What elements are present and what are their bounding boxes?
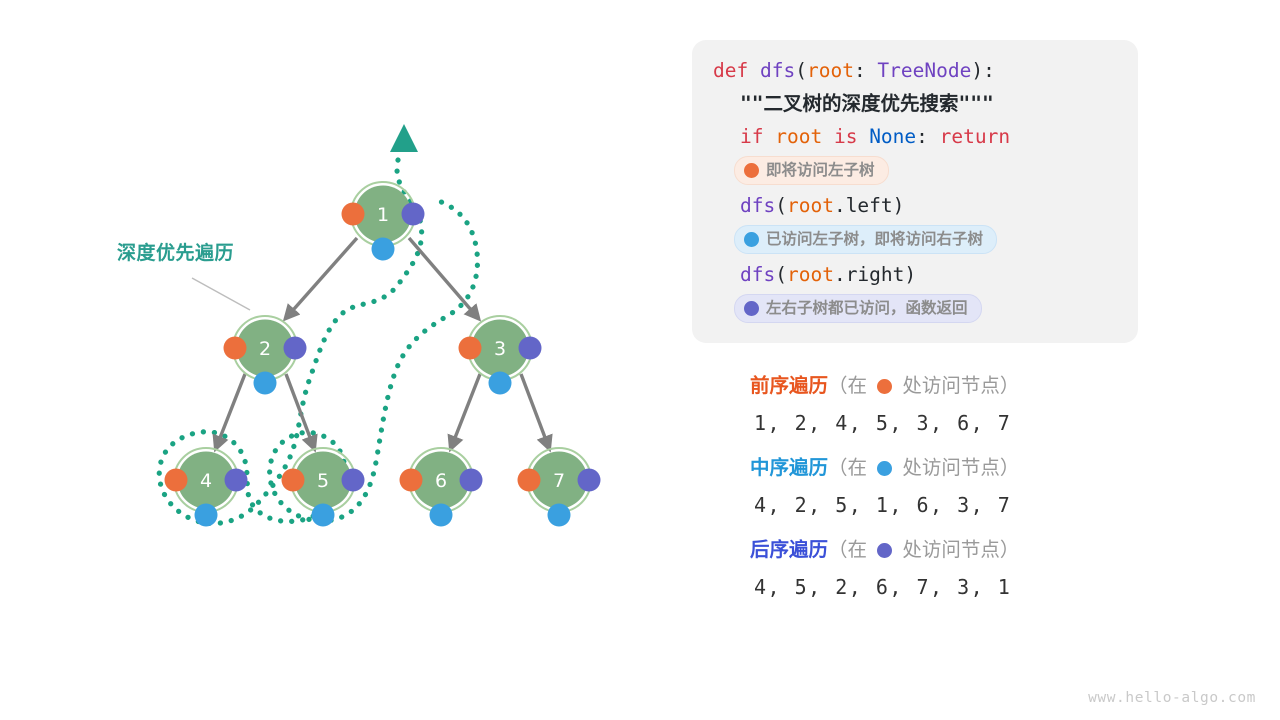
inorder-marker-4 [195,504,218,527]
function-name: dfs [760,59,795,82]
postorder-marker-4 [225,469,248,492]
code-line-call-left: dfs(root.left) [692,189,1138,222]
traversal-preorder-note-close: 处访问节点） [896,374,1019,397]
traversal-postorder: 后序遍历（在 处访问节点） 4, 5, 2, 6, 7, 3, 1 [750,532,1170,606]
code-line-guard: if root is None: return [692,120,1138,153]
edge-2-4 [216,374,245,448]
traversal-postorder-title: 后序遍历 [750,538,828,561]
inorder-marker-7 [548,504,571,527]
postorder-marker-5 [342,469,365,492]
tree-node-1[interactable]: 1 [342,182,425,261]
guard-var: root [775,125,822,148]
tree-node-label: 3 [494,338,506,360]
traversal-inorder-heading: 中序遍历（在 处访问节点） [750,450,1170,486]
postorder-marker-3 [519,337,542,360]
tree-node-label: 2 [259,338,271,360]
purple-dot-icon [877,543,892,558]
code-line-signature: def dfs(root: TreeNode): [692,54,1138,87]
postorder-marker-2 [284,337,307,360]
tree-node-label: 5 [317,470,329,492]
call-left-obj: root [787,194,834,217]
tree-nodes: 1 2 3 [165,182,601,527]
blue-dot-icon [877,461,892,476]
keyword-return: return [940,125,1010,148]
paren-open: ( [795,59,807,82]
annotation-colon: : [854,59,877,82]
badge-row-inorder: 已访问左子树，即将访问右子树 [692,222,1138,258]
tree-node-label: 1 [377,204,389,226]
traversal-inorder-note-open: （在 [828,456,873,479]
inorder-marker-5 [312,504,335,527]
preorder-marker-6 [400,469,423,492]
call-right-paren-close: ) [904,263,916,286]
traversal-inorder-note-close: 处访问节点） [896,456,1019,479]
traversal-preorder: 前序遍历（在 处访问节点） 1, 2, 4, 5, 3, 6, 7 [750,368,1170,442]
tree-node-5[interactable]: 5 [282,448,365,527]
traversal-inorder-sequence: 4, 2, 5, 1, 6, 3, 7 [750,486,1170,524]
orange-dot-icon [744,163,759,178]
preorder-marker-4 [165,469,188,492]
traversal-inorder: 中序遍历（在 处访问节点） 4, 2, 5, 1, 6, 3, 7 [750,450,1170,524]
param-name: root [807,59,854,82]
postorder-marker-7 [578,469,601,492]
traversal-preorder-heading: 前序遍历（在 处访问节点） [750,368,1170,404]
tree-node-4[interactable]: 4 [165,448,248,527]
traversal-postorder-heading: 后序遍历（在 处访问节点） [750,532,1170,568]
call-right-obj: root [787,263,834,286]
edge-1-3 [409,238,478,318]
preorder-marker-5 [282,469,305,492]
preorder-marker-1 [342,203,365,226]
tree-node-3[interactable]: 3 [459,316,542,395]
traversal-postorder-note-close: 处访问节点） [896,538,1019,561]
badge-postorder: 左右子树都已访问，函数返回 [734,294,982,323]
purple-dot-icon [744,301,759,316]
inorder-marker-6 [430,504,453,527]
edge-1-2 [286,238,357,318]
tree-node-label: 4 [200,470,212,492]
inorder-marker-3 [489,372,512,395]
traversal-preorder-note-open: （在 [828,374,873,397]
traversal-postorder-sequence: 4, 5, 2, 6, 7, 3, 1 [750,568,1170,606]
traversal-preorder-title: 前序遍历 [750,374,828,397]
postorder-marker-6 [460,469,483,492]
entry-triangle-icon [390,124,418,152]
badge-row-postorder: 左右子树都已访问，函数返回 [692,291,1138,327]
guard-colon: : [916,125,939,148]
traversal-inorder-title: 中序遍历 [750,456,828,479]
inorder-marker-1 [372,238,395,261]
call-left-attr: .left [834,194,893,217]
preorder-marker-7 [518,469,541,492]
tree-svg: 1 2 3 [0,0,670,720]
tree-node-2[interactable]: 2 [224,316,307,395]
badge-preorder-text: 即将访问左子树 [766,160,875,180]
badge-preorder: 即将访问左子树 [734,156,889,185]
keyword-if: if [740,125,763,148]
caption-leader-line [192,278,250,310]
traversal-postorder-note-open: （在 [828,538,873,561]
binary-tree-diagram: 1 2 3 [0,0,670,720]
code-line-docstring: ""二叉树的深度优先搜索""" [692,87,1138,120]
illustration-canvas: 1 2 3 [0,0,1280,720]
call-right-fn: dfs [740,263,775,286]
signature-colon: : [983,59,995,82]
orange-dot-icon [877,379,892,394]
type-name: TreeNode [877,59,971,82]
preorder-marker-3 [459,337,482,360]
inorder-marker-2 [254,372,277,395]
call-right-paren-open: ( [775,263,787,286]
call-right-attr: .right [834,263,904,286]
code-line-call-right: dfs(root.right) [692,258,1138,291]
badge-postorder-text: 左右子树都已访问，函数返回 [766,298,968,318]
traversal-results: 前序遍历（在 处访问节点） 1, 2, 4, 5, 3, 6, 7 中序遍历（在… [750,368,1170,614]
call-left-fn: dfs [740,194,775,217]
call-left-paren-open: ( [775,194,787,217]
preorder-marker-2 [224,337,247,360]
keyword-is: is [834,125,857,148]
paren-close: ) [971,59,983,82]
badge-inorder: 已访问左子树，即将访问右子树 [734,225,997,254]
badge-inorder-text: 已访问左子树，即将访问右子树 [766,229,983,249]
const-none: None [869,125,916,148]
tree-node-label: 7 [553,470,565,492]
traversal-preorder-sequence: 1, 2, 4, 5, 3, 6, 7 [750,404,1170,442]
edge-3-6 [451,374,480,448]
blue-dot-icon [744,232,759,247]
dfs-caption-label: 深度优先遍历 [117,238,234,265]
tree-node-7[interactable]: 7 [518,448,601,527]
keyword-def: def [713,59,748,82]
edge-3-7 [521,374,549,448]
watermark: www.hello-algo.com [1088,690,1256,706]
tree-node-label: 6 [435,470,447,492]
call-left-paren-close: ) [893,194,905,217]
docstring-text: ""二叉树的深度优先搜索""" [740,92,994,115]
code-card: def dfs(root: TreeNode): ""二叉树的深度优先搜索"""… [692,40,1138,343]
postorder-marker-1 [402,203,425,226]
badge-row-preorder: 即将访问左子树 [692,153,1138,189]
